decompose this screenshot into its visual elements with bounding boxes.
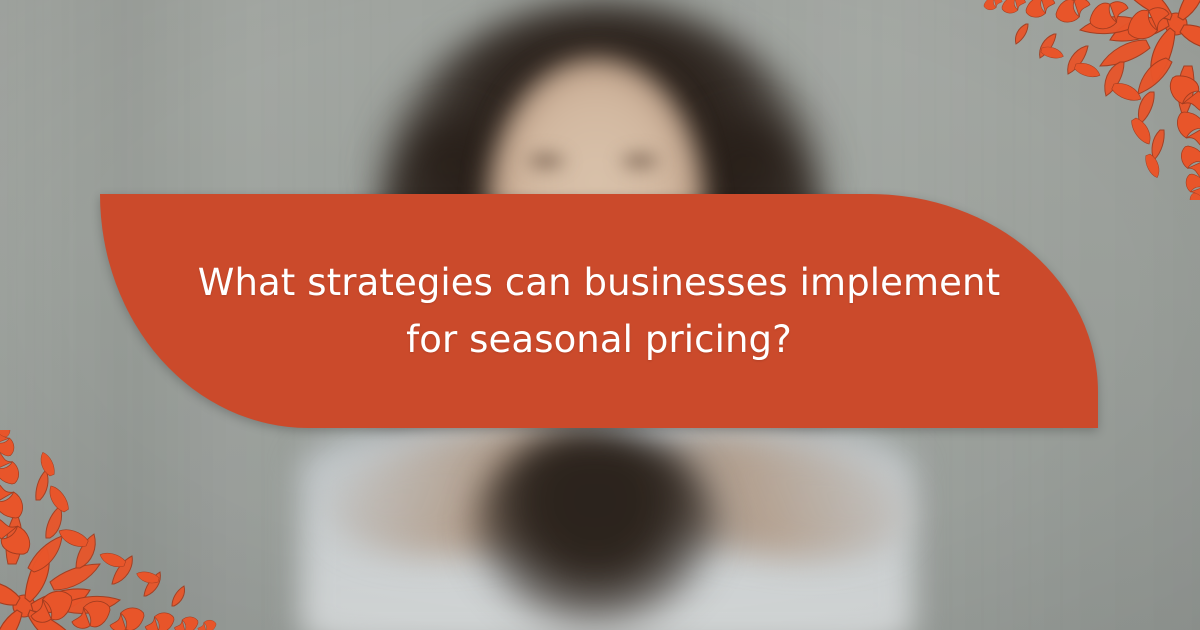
og-image-canvas: What strategies can businesses implement… bbox=[0, 0, 1200, 630]
headline-banner-inner: What strategies can businesses implement… bbox=[154, 254, 1044, 369]
headline-banner: What strategies can businesses implement… bbox=[100, 194, 1098, 428]
page-title: What strategies can businesses implement… bbox=[184, 254, 1014, 369]
